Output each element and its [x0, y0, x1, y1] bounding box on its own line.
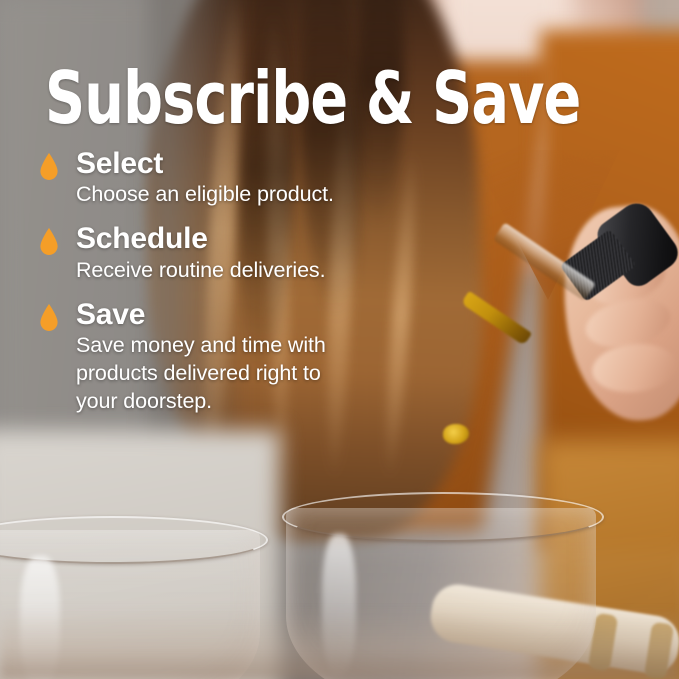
list-item: Save Save money and time with products d… [40, 299, 440, 416]
droplet-icon [40, 304, 58, 331]
benefits-list: Select Choose an eligible product. Sched… [40, 148, 440, 430]
text-overlay: Subscribe & Save Select Choose an eligib… [0, 0, 679, 679]
list-item: Select Choose an eligible product. [40, 148, 440, 209]
list-item-desc: Save money and time with products delive… [76, 332, 440, 416]
droplet-icon [40, 153, 58, 180]
list-item-title: Select [76, 148, 440, 180]
list-item-desc: Choose an eligible product. [76, 181, 440, 209]
page-title: Subscribe & Save [45, 62, 580, 134]
list-item-desc: Receive routine deliveries. [76, 257, 440, 285]
list-item: Schedule Receive routine deliveries. [40, 223, 440, 284]
list-item-title: Save [76, 299, 440, 331]
list-item-title: Schedule [76, 223, 440, 255]
droplet-icon [40, 228, 58, 255]
subscribe-and-save-banner: Subscribe & Save Select Choose an eligib… [0, 0, 679, 679]
